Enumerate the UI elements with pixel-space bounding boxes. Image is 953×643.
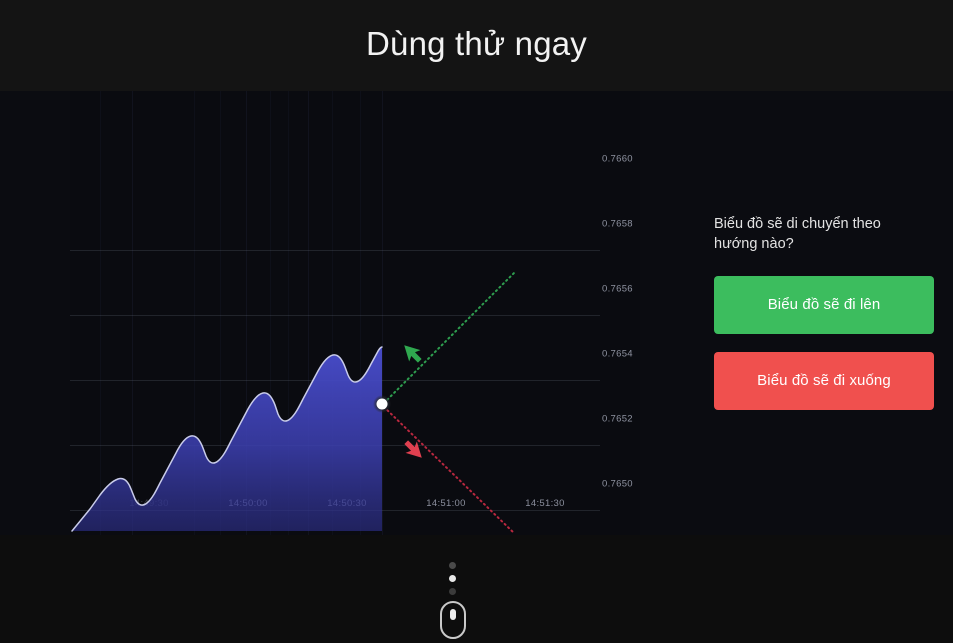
current-price-marker [373,395,391,413]
header-bar: Dùng thử ngay [0,0,953,91]
down-right-arrow-icon [401,437,428,464]
prediction-question: Biểu đồ sẽ di chuyển theo hướng nào? [714,214,914,254]
up-trend-projection [384,273,514,403]
price-area-fill [72,347,382,531]
footer-bar [0,535,953,643]
carousel-dot-1[interactable] [449,562,456,569]
page-title: Dùng thử ngay [366,25,587,63]
down-trend-projection [384,407,514,533]
mouse-scroll-icon [440,601,466,639]
carousel-dots[interactable] [449,562,456,595]
trading-demo-screen: Dùng thử ngay 0.7660 0.7658 0.76 [0,0,953,643]
carousel-dot-3[interactable] [449,588,456,595]
predict-up-button[interactable]: Biểu đồ sẽ đi lên [714,276,934,334]
mouse-wheel-icon [450,609,456,620]
predict-down-button[interactable]: Biểu đồ sẽ đi xuống [714,352,934,410]
up-right-arrow-icon [399,340,426,367]
prediction-panel: Biểu đồ sẽ di chuyển theo hướng nào? Biể… [714,214,934,428]
carousel-dot-2[interactable] [449,575,456,582]
